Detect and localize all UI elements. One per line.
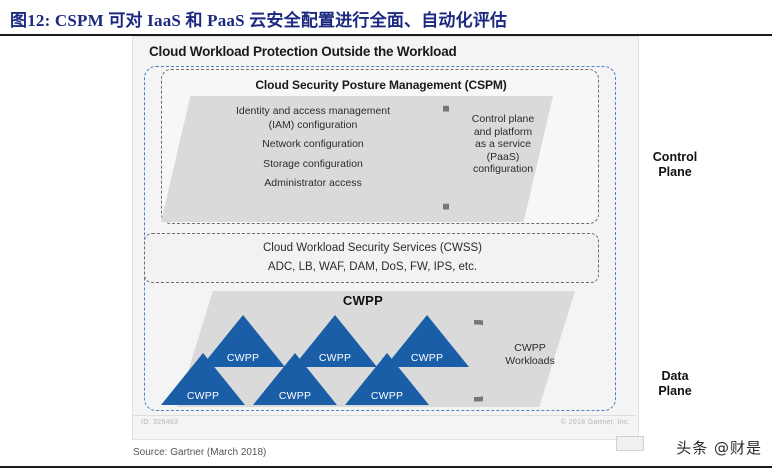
gartner-copyright: © 2018 Gartner, Inc.: [561, 419, 630, 426]
cwpp-node: CWPP: [161, 353, 245, 405]
watermark: 头条 @财是: [676, 437, 762, 458]
cwpp-node-label: CWPP: [253, 390, 337, 402]
source-note: Source: Gartner (March 2018): [133, 447, 266, 458]
cwpp-node-label: CWPP: [161, 390, 245, 402]
cwpp-node: CWPP: [253, 353, 337, 405]
cwpp-node: CWPP: [345, 353, 429, 405]
panel-footer-divider: [133, 415, 636, 416]
panel-heading: Cloud Workload Protection Outside the Wo…: [149, 44, 457, 59]
cwpp-node-label: CWPP: [345, 390, 429, 402]
cwpp-title: CWPP: [283, 293, 443, 308]
cspm-item-admin: Administrator access: [188, 177, 438, 191]
data-plane-label: DataPlane: [625, 369, 725, 399]
cspm-title: Cloud Security Posture Management (CSPM): [162, 78, 600, 92]
cwss-title: Cloud Workload Security Services (CWSS): [145, 242, 600, 254]
cwss-services: ADC, LB, WAF, DAM, DoS, FW, IPS, etc.: [145, 261, 600, 273]
page-title: 图12: CSPM 可对 IaaS 和 PaaS 云安全配置进行全面、自动化评估: [10, 6, 762, 31]
cspm-item-iam: Identity and access management(IAM) conf…: [188, 105, 438, 132]
cwpp-workloads-label: CWPPWorkloads: [485, 342, 575, 368]
cspm-brace-note: Control planeand platformas a service(Pa…: [453, 113, 553, 176]
cspm-item-list: Identity and access management(IAM) conf…: [188, 105, 438, 197]
cwpp-brace-icon: }: [463, 313, 483, 405]
gartner-id: ID: 326483: [141, 419, 178, 426]
cspm-item-network: Network configuration: [188, 138, 438, 152]
bottom-divider: [0, 466, 772, 468]
control-plane-label: ControlPlane: [625, 150, 725, 180]
cspm-brace-icon: }: [429, 97, 449, 215]
cwss-box: Cloud Workload Security Services (CWSS) …: [144, 233, 599, 283]
cwpp-node-group: CWPP CWPP CWPP CWPP CWPP CWPP: [193, 315, 458, 407]
cspm-item-storage: Storage configuration: [188, 158, 438, 172]
watermark-badge-icon: [616, 436, 644, 451]
gartner-figure-panel: Cloud Workload Protection Outside the Wo…: [132, 36, 639, 440]
